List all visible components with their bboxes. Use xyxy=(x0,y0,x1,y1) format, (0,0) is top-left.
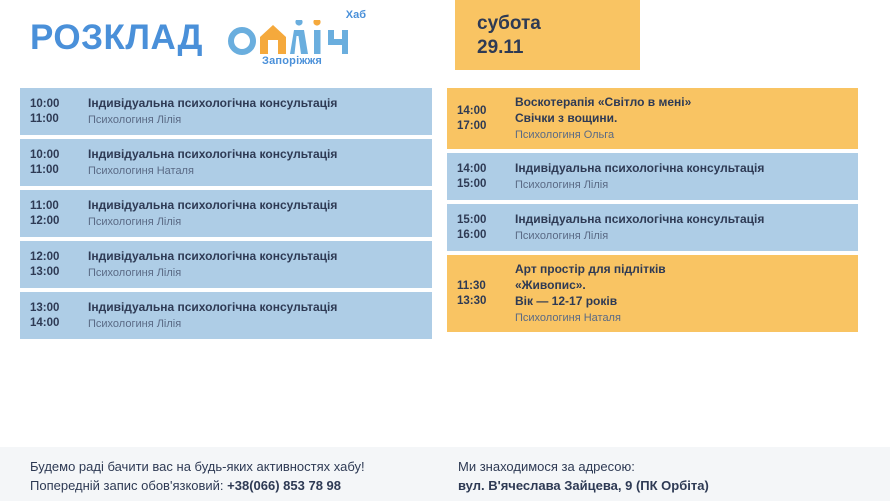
slot-title: Воскотерапія «Світло в мені» xyxy=(515,94,850,110)
slot-title: Індивідуальна психологічна консультація xyxy=(515,160,850,176)
footer-welcome-text: Будемо раді бачити вас на будь-яких акти… xyxy=(30,457,365,476)
slot-time-range: 10:0011:00 xyxy=(30,148,82,178)
schedule-slot[interactable]: 11:0012:00Індивідуальна психологічна кон… xyxy=(20,190,432,237)
slot-time-end: 11:00 xyxy=(30,112,82,127)
slot-body: Індивідуальна психологічна консультаціяП… xyxy=(82,146,424,179)
oplich-hub-logo: Хаб Запоріжжя xyxy=(228,6,368,68)
slot-time-end: 15:00 xyxy=(457,177,509,192)
slot-title: Індивідуальна психологічна консультація xyxy=(88,95,424,111)
slot-title: Індивідуальна психологічна консультація xyxy=(88,146,424,162)
slot-time-range: 14:0017:00 xyxy=(457,104,509,134)
day-weekday: субота xyxy=(477,12,640,36)
slot-time-range: 15:0016:00 xyxy=(457,213,509,243)
slot-time-range: 10:0011:00 xyxy=(30,97,82,127)
slot-time-start: 13:00 xyxy=(30,301,82,316)
slot-time-start: 14:00 xyxy=(457,104,509,119)
footer-booking-line: Попередній запис обов'язковий: +38(066) … xyxy=(30,476,365,495)
slot-body: Індивідуальна психологічна консультаціяП… xyxy=(82,95,424,128)
slot-time-range: 13:0014:00 xyxy=(30,301,82,331)
slot-facilitator: Психологиня Наталя xyxy=(88,163,424,179)
slot-facilitator: Психологиня Лілія xyxy=(88,112,424,128)
slot-time-end: 16:00 xyxy=(457,228,509,243)
slot-facilitator: Психологиня Наталя xyxy=(515,310,850,326)
slot-body: Індивідуальна психологічна консультаціяП… xyxy=(509,211,850,244)
slot-time-range: 14:0015:00 xyxy=(457,162,509,192)
slot-time-end: 17:00 xyxy=(457,119,509,134)
slot-time-range: 12:0013:00 xyxy=(30,250,82,280)
slot-facilitator: Психологиня Ольга xyxy=(515,127,850,143)
slot-time-start: 12:00 xyxy=(30,250,82,265)
footer-booking-label: Попередній запис обов'язковий: xyxy=(30,478,227,493)
logo-wordmark-icon xyxy=(228,20,368,56)
slot-body: Арт простір для підлітків«Живопис».Вік —… xyxy=(509,261,850,326)
schedule-slot[interactable]: 13:0014:00Індивідуальна психологічна кон… xyxy=(20,292,432,339)
poster-header: РОЗКЛАД Хаб Запоріжжя субота 29.11 xyxy=(0,0,890,82)
slot-time-range: 11:0012:00 xyxy=(30,199,82,229)
footer-address-value: вул. В'ячеслава Зайцева, 9 (ПК Орбіта) xyxy=(458,476,709,495)
slot-facilitator: Психологиня Лілія xyxy=(88,316,424,332)
schedule-column-left: 10:0011:00Індивідуальна психологічна кон… xyxy=(20,88,432,343)
slot-body: Індивідуальна психологічна консультаціяП… xyxy=(509,160,850,193)
slot-title2: Свічки з вощини. xyxy=(515,110,850,126)
schedule-slot[interactable]: 15:0016:00Індивідуальна психологічна кон… xyxy=(447,204,858,251)
slot-body: Індивідуальна психологічна консультаціяП… xyxy=(82,299,424,332)
slot-facilitator: Психологиня Лілія xyxy=(88,214,424,230)
slot-time-end: 12:00 xyxy=(30,214,82,229)
slot-facilitator: Психологиня Лілія xyxy=(88,265,424,281)
page-title: РОЗКЛАД xyxy=(30,18,203,58)
slot-time-start: 15:00 xyxy=(457,213,509,228)
schedule-slot[interactable]: 14:0017:00Воскотерапія «Світло в мені»Св… xyxy=(447,88,858,149)
slot-time-start: 10:00 xyxy=(30,97,82,112)
schedule-slot[interactable]: 14:0015:00Індивідуальна психологічна кон… xyxy=(447,153,858,200)
slot-time-end: 11:00 xyxy=(30,163,82,178)
poster-footer: Будемо раді бачити вас на будь-яких акти… xyxy=(0,447,890,501)
slot-title: Індивідуальна психологічна консультація xyxy=(88,299,424,315)
schedule-slot[interactable]: 10:0011:00Індивідуальна психологічна кон… xyxy=(20,88,432,135)
schedule-slot[interactable]: 11:3013:30Арт простір для підлітків«Живо… xyxy=(447,255,858,332)
schedule-column-right: 14:0017:00Воскотерапія «Світло в мені»Св… xyxy=(447,88,858,336)
slot-title3: Вік — 12-17 років xyxy=(515,293,850,309)
slot-time-end: 13:00 xyxy=(30,265,82,280)
slot-time-start: 11:00 xyxy=(30,199,82,214)
slot-time-start: 10:00 xyxy=(30,148,82,163)
slot-facilitator: Психологиня Лілія xyxy=(515,177,850,193)
footer-address-label: Ми знаходимося за адресою: xyxy=(458,457,709,476)
slot-time-start: 14:00 xyxy=(457,162,509,177)
footer-address-block: Ми знаходимося за адресою: вул. В'ячесла… xyxy=(458,457,709,495)
slot-body: Індивідуальна психологічна консультаціяП… xyxy=(82,248,424,281)
slot-title: Індивідуальна психологічна консультація xyxy=(88,197,424,213)
schedule-slot[interactable]: 12:0013:00Індивідуальна психологічна кон… xyxy=(20,241,432,288)
slot-title: Індивідуальна психологічна консультація xyxy=(515,211,850,227)
slot-title2: «Живопис». xyxy=(515,277,850,293)
slot-time-start: 11:30 xyxy=(457,279,509,294)
slot-body: Індивідуальна психологічна консультаціяП… xyxy=(82,197,424,230)
footer-contact-block: Будемо раді бачити вас на будь-яких акти… xyxy=(30,457,365,495)
slot-title: Індивідуальна психологічна консультація xyxy=(88,248,424,264)
slot-time-end: 14:00 xyxy=(30,316,82,331)
slot-title: Арт простір для підлітків xyxy=(515,261,850,277)
day-date: 29.11 xyxy=(477,36,640,60)
footer-phone[interactable]: +38(066) 853 78 98 xyxy=(227,478,341,493)
slot-body: Воскотерапія «Світло в мені»Свічки з вощ… xyxy=(509,94,850,143)
day-badge: субота 29.11 xyxy=(455,0,640,70)
slot-time-range: 11:3013:30 xyxy=(457,279,509,309)
schedule-slot[interactable]: 10:0011:00Індивідуальна психологічна кон… xyxy=(20,139,432,186)
slot-time-end: 13:30 xyxy=(457,294,509,309)
logo-city-label: Запоріжжя xyxy=(262,55,322,67)
slot-facilitator: Психологиня Лілія xyxy=(515,228,850,244)
